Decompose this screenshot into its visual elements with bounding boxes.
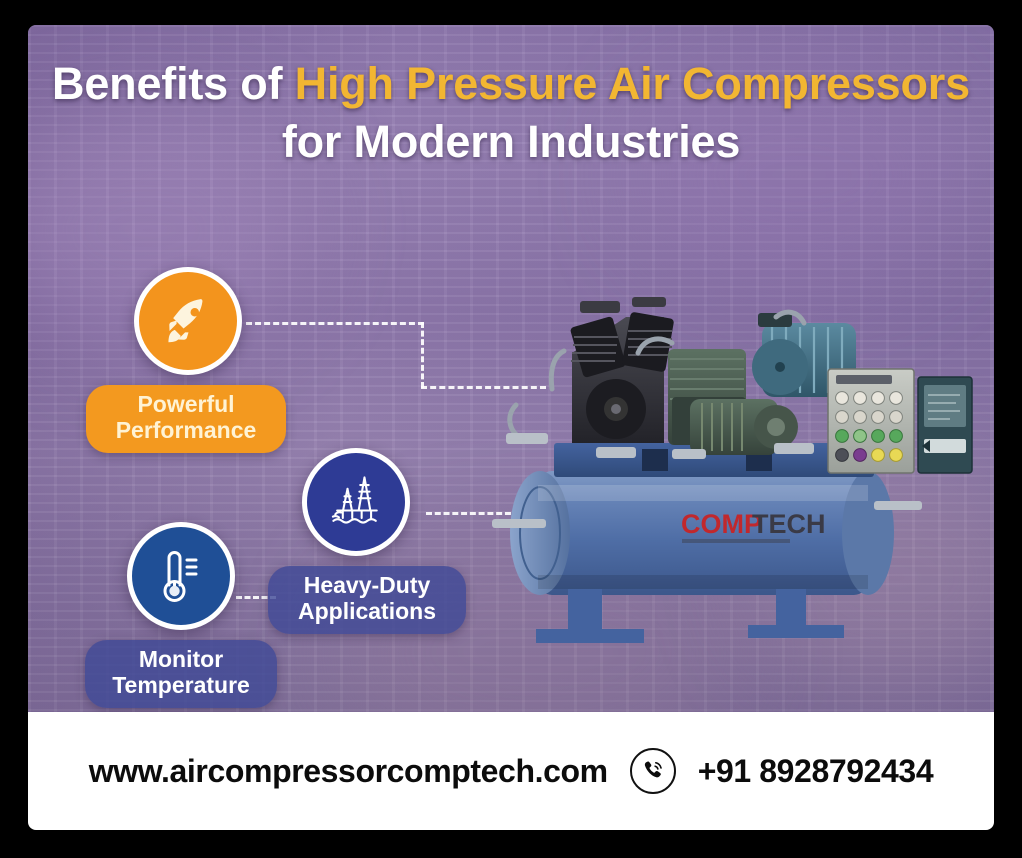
- headline-highlight: High Pressure Air Compressors: [295, 58, 970, 109]
- compressor-pump-head: [570, 297, 675, 443]
- brand-comp: COMP: [681, 509, 762, 539]
- product-image-air-compressor: COMP TECH: [476, 257, 976, 657]
- controller-display-unit: [918, 377, 972, 473]
- badge-circle: [302, 448, 410, 556]
- badge-label: Heavy-Duty Applications: [268, 566, 466, 634]
- badge-label: Monitor Temperature: [85, 640, 277, 708]
- headline: Benefits of High Pressure Air Compressor…: [28, 25, 994, 168]
- badge-label-line-1: Monitor: [103, 647, 259, 673]
- rocket-icon: [157, 290, 219, 352]
- poster-frame: Benefits of High Pressure Air Compressor…: [0, 0, 1022, 858]
- thermometer-icon: [151, 544, 211, 608]
- tank-support-feet: [536, 589, 844, 643]
- phone-number[interactable]: +91 8928792434: [698, 753, 934, 790]
- poster-canvas: Benefits of High Pressure Air Compressor…: [28, 25, 994, 830]
- phone-handset-glyph: [640, 758, 666, 784]
- hero-section: Benefits of High Pressure Air Compressor…: [28, 25, 994, 712]
- oil-rig-icon: [323, 471, 389, 533]
- feature-badge-heavy-duty[interactable]: Heavy-Duty Applications: [300, 448, 466, 634]
- headline-line-2: for Modern Industries: [28, 117, 994, 167]
- brand-tech: TECH: [752, 509, 826, 539]
- badge-label-line-2: Temperature: [103, 673, 259, 699]
- product-brand-logo: COMP TECH: [681, 509, 826, 543]
- compressor-illustration: COMP TECH: [476, 257, 976, 657]
- badge-label-line-2: Performance: [104, 418, 268, 444]
- headline-prefix-2: for: [282, 116, 354, 167]
- website-url[interactable]: www.aircompressorcomptech.com: [89, 753, 608, 790]
- connector-line-rocket-vertical: [421, 322, 424, 388]
- badge-circle: [134, 267, 242, 375]
- badge-label-line-2: Applications: [286, 599, 448, 625]
- feature-badge-monitor-temperature[interactable]: Monitor Temperature: [85, 522, 277, 708]
- badge-label-line-1: Powerful: [104, 392, 268, 418]
- phone-call-icon: [630, 748, 676, 794]
- headline-line-1: Benefits of High Pressure Air Compressor…: [28, 59, 994, 109]
- headline-highlight-2: Modern Industries: [354, 116, 741, 167]
- badge-label-line-1: Heavy-Duty: [286, 573, 448, 599]
- headline-prefix: Benefits of: [52, 58, 295, 109]
- badge-label: Powerful Performance: [86, 385, 286, 453]
- control-panel: [828, 369, 914, 473]
- feature-badge-powerful-performance[interactable]: Powerful Performance: [86, 267, 286, 453]
- badge-circle: [127, 522, 235, 630]
- footer-contact-bar: www.aircompressorcomptech.com +91 892879…: [28, 712, 994, 830]
